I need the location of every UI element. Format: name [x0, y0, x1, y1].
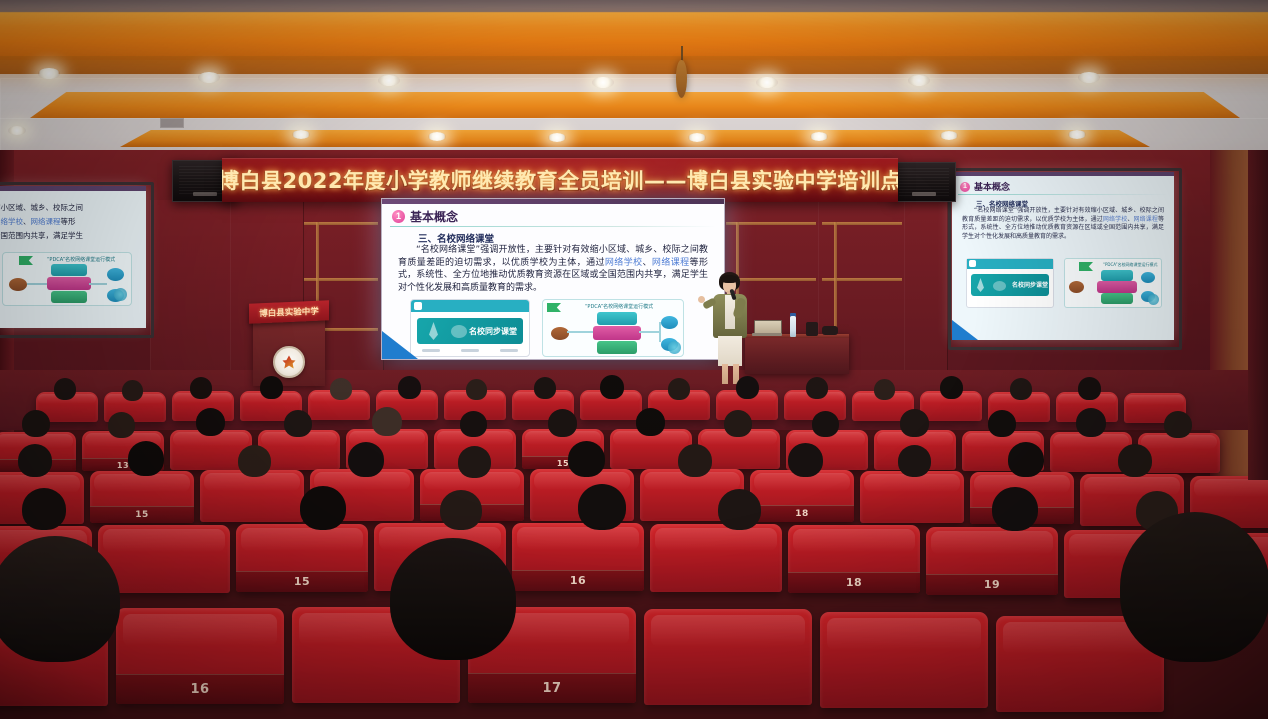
- audience-head: [636, 408, 665, 436]
- figure-b-node-bottom: [597, 341, 637, 354]
- audience-head: [668, 378, 690, 400]
- seat-number: 18: [795, 509, 809, 519]
- right-wall-edge: [1248, 150, 1268, 480]
- desk-item-dark: [806, 322, 818, 336]
- figure-a-label: 名校同步课堂: [469, 326, 517, 337]
- audience-head: [600, 375, 624, 399]
- downlight: [908, 75, 930, 86]
- seat-number-plate: 15: [90, 506, 194, 523]
- seat-number-plate: 18: [750, 505, 854, 522]
- audience-head: [718, 489, 761, 530]
- seat: 16: [116, 608, 284, 704]
- audience-head: [18, 444, 52, 477]
- audience-head: [466, 379, 487, 400]
- audience-head: [578, 484, 626, 530]
- figure-a-banner-card: 名校同步课堂: [417, 318, 523, 344]
- audience-head-foreground: [0, 536, 120, 662]
- audience-head-foreground: [390, 538, 516, 660]
- downlight: [198, 72, 220, 83]
- audience-head: [260, 376, 283, 399]
- audience-head: [898, 445, 931, 477]
- audience-head: [678, 444, 712, 477]
- presenter: [703, 272, 757, 384]
- audience-head: [348, 442, 384, 477]
- audience-head: [196, 408, 225, 436]
- wall-panel: [150, 200, 232, 378]
- ceiling-beam-middle: [30, 92, 1240, 118]
- lectern-sign-text: 博白县实验中学: [259, 305, 319, 320]
- wall-speaker-right: [892, 162, 956, 202]
- audience-head: [1076, 408, 1106, 437]
- auditorium-photo: 主要针对有效缩小区域、城乡、校际之间 为主体，通过网络学校、网络课程等形 资源在…: [0, 0, 1268, 719]
- audience-head: [534, 377, 556, 399]
- lectern-sign: 博白县实验中学: [249, 300, 329, 323]
- seat: 15: [236, 524, 368, 592]
- audience-head: [1164, 411, 1192, 438]
- seat: [644, 609, 812, 705]
- desk-item-dark: [822, 326, 838, 335]
- downlight: [756, 77, 778, 88]
- ceiling-seam: [0, 118, 1268, 119]
- audience-head: [190, 377, 212, 399]
- presenter-left-hand: [698, 296, 705, 303]
- seat-number: 18: [846, 576, 862, 589]
- speaker-brand-tag: [193, 192, 217, 196]
- audience-head: [284, 410, 312, 437]
- seat: [200, 470, 304, 522]
- audience-head: [724, 410, 752, 437]
- figure-a-shape: [429, 322, 438, 340]
- slide-section-title: 基本概念: [410, 208, 458, 225]
- downlight: [8, 126, 26, 135]
- downlight: [940, 131, 958, 140]
- seat: [860, 471, 964, 523]
- downlight: [688, 133, 706, 142]
- figure-b-title: “PDCA”名校网络课堂运行模式: [585, 303, 653, 310]
- right-led-screen-frame: [948, 168, 1182, 350]
- ceiling-beam-front-shadow: [0, 56, 1268, 74]
- downlight: [592, 77, 614, 88]
- ceiling-vent: [160, 118, 184, 128]
- audience-head: [568, 441, 605, 477]
- seat-number-plate: 18: [788, 572, 920, 593]
- seat: [820, 612, 988, 708]
- slide-body-link1: 网络学校: [605, 258, 643, 268]
- audience-head: [806, 377, 828, 399]
- figure-b-emblem: [668, 341, 681, 354]
- figure-b-connector: [659, 322, 661, 342]
- ceiling-beam-front: [0, 12, 1268, 60]
- downlight: [548, 133, 566, 142]
- left-led-screen-frame: [0, 182, 154, 338]
- audience-head: [300, 486, 346, 530]
- figure-b-node-top: [597, 312, 637, 325]
- main-projection-screen: 1 基本概念 三、名校网络课堂 “名校网络课堂”强调开放性，主要针对有效缩小区域…: [381, 198, 725, 360]
- seat-number-plate: 16: [512, 570, 644, 591]
- presenter-fringe: [721, 275, 738, 283]
- downlight: [1078, 72, 1100, 83]
- figure-b-node-right-upper: [661, 316, 678, 329]
- slide-header: 1 基本概念: [392, 208, 458, 225]
- audience-head: [460, 411, 487, 437]
- seat: 15: [90, 471, 194, 523]
- wall-panel: [904, 176, 948, 372]
- downlight: [292, 130, 310, 139]
- audience-head: [1008, 442, 1044, 477]
- audience-head: [1010, 378, 1032, 400]
- figure-a-blob: [451, 325, 467, 338]
- audience-head: [736, 376, 759, 399]
- audience-head: [874, 379, 895, 400]
- figure-a-app-icon: [414, 302, 422, 310]
- audience-head: [812, 411, 839, 437]
- audience-head: [398, 376, 421, 399]
- figure-b-connector: [567, 331, 593, 333]
- downlight: [428, 132, 446, 141]
- seat: 16: [512, 523, 644, 591]
- figure-a-toolbar: [411, 300, 529, 312]
- audience-head: [54, 378, 76, 400]
- seat: [650, 524, 782, 592]
- slide-top-bar: [382, 199, 724, 204]
- slide-figure-pdca-diagram: “PDCA”名校网络课堂运行模式: [542, 299, 684, 357]
- seat: 18: [788, 525, 920, 593]
- figure-a-footer: [411, 346, 529, 355]
- audience-head: [122, 380, 143, 401]
- slide-subtitle: 三、名校网络课堂: [418, 231, 494, 245]
- audience-head: [238, 445, 271, 477]
- audience-head: [128, 441, 164, 476]
- presenter-desk: [745, 334, 849, 374]
- seat-number: 19: [984, 578, 1000, 591]
- downlight: [810, 132, 828, 141]
- seat-number: 16: [190, 682, 209, 697]
- seat-number: 16: [570, 574, 586, 587]
- presenter-leg: [722, 364, 728, 384]
- audience-head: [940, 376, 963, 399]
- slide-body-sep: 、: [643, 258, 652, 268]
- banner-text: 博白县2022年度小学教师继续教育全员培训——博白县实验中学培训点: [222, 165, 898, 195]
- slide-body-link2: 网络课程: [652, 258, 690, 268]
- seat-number: 15: [294, 575, 310, 588]
- audience-head: [22, 488, 66, 530]
- seat-number-plate: 17: [468, 673, 636, 703]
- audience-head: [1118, 444, 1152, 477]
- figure-b-flag-icon: [547, 303, 561, 312]
- audience-head: [440, 490, 482, 530]
- ceiling-beam-back: [120, 130, 1150, 147]
- seat: 19: [926, 527, 1058, 595]
- audience-head: [992, 487, 1038, 531]
- lectern: 博白县实验中学: [253, 312, 325, 386]
- seat-number-plate: 16: [116, 674, 284, 704]
- audience-head: [22, 410, 50, 437]
- downlight: [38, 68, 60, 79]
- audience-head: [372, 407, 402, 436]
- wall-trim: [726, 222, 816, 225]
- slide-body-text: “名校网络课堂”强调开放性，主要针对有效缩小区域、城乡、校际之间教育质量差距的迫…: [398, 244, 708, 294]
- slide-header-rule: [390, 226, 716, 227]
- presenter-skirt: [718, 336, 742, 366]
- audience-head: [900, 409, 929, 437]
- audience-head: [548, 409, 577, 437]
- slide-figure-sync-classroom: 名校同步课堂: [410, 299, 530, 357]
- audience-head: [1078, 377, 1101, 400]
- downlight: [378, 75, 400, 86]
- speaker-brand-tag: [912, 192, 936, 196]
- figure-b-node-left: [551, 327, 569, 340]
- seat-number-plate: 15: [236, 571, 368, 592]
- audience-head: [108, 412, 135, 438]
- seat-number: 15: [135, 510, 149, 520]
- event-banner: 博白县2022年度小学教师继续教育全员培训——博白县实验中学培训点: [222, 158, 898, 202]
- school-emblem: [273, 346, 305, 378]
- slide-section-badge: 1: [392, 210, 405, 223]
- figure-b-connector: [639, 331, 661, 333]
- water-bottle: [790, 316, 796, 337]
- pendant-lamp: [676, 60, 687, 98]
- seat-number: 17: [542, 681, 561, 696]
- audience-head: [988, 410, 1016, 437]
- seat: 18: [750, 470, 854, 522]
- audience-head: [788, 443, 823, 477]
- seat-number-plate: 19: [926, 574, 1058, 595]
- figure-b-node-center: [593, 326, 641, 340]
- audience-head: [330, 378, 352, 400]
- audience-head: [458, 446, 491, 478]
- downlight: [1068, 130, 1086, 139]
- audience-head-foreground: [1120, 512, 1268, 662]
